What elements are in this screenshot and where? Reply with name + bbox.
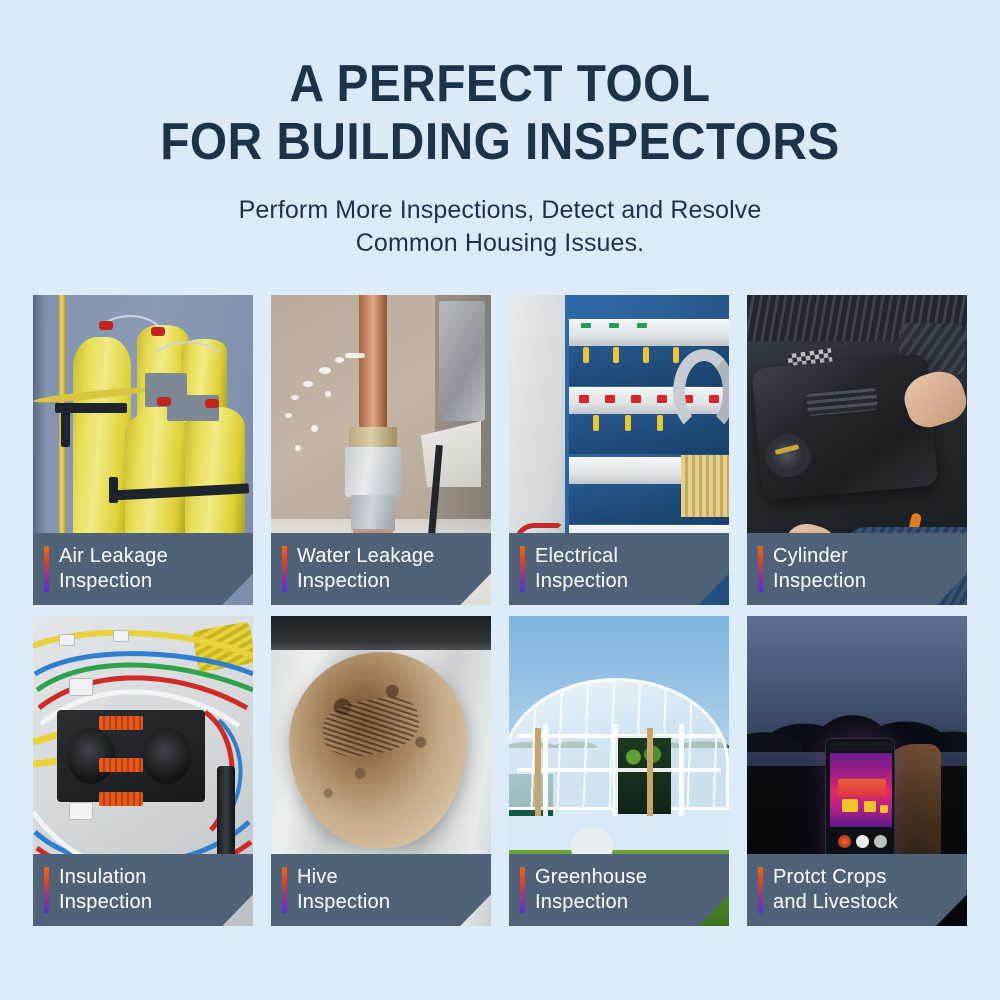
thermal-camera-phone-icon: [825, 738, 895, 874]
header: A PERFECT TOOL FOR BUILDING INSPECTORS P…: [0, 0, 1000, 260]
caption-line-2: Inspection: [59, 569, 168, 594]
caption-line-1: Greenhouse: [535, 865, 647, 890]
caption-line-1: Hive: [297, 865, 390, 890]
caption-line-2: Inspection: [59, 890, 152, 915]
card-caption-text: Protct Crops and Livestock: [773, 865, 898, 915]
caption-line-1: Water Leakage: [297, 544, 435, 569]
card-caption-text: Insulation Inspection: [59, 865, 152, 915]
accent-bar-icon: [282, 867, 287, 913]
accent-bar-icon: [282, 546, 287, 592]
accent-bar-icon: [520, 867, 525, 913]
page-title-line-2: FOR BUILDING INSPECTORS: [40, 116, 960, 168]
caption-line-1: Insulation: [59, 865, 152, 890]
accent-bar-icon: [44, 867, 49, 913]
card-caption-cylinder-inspection: Cylinder Inspection: [747, 533, 967, 605]
caption-line-2: Inspection: [535, 890, 647, 915]
accent-bar-icon: [520, 546, 525, 592]
caption-line-1: Protct Crops: [773, 865, 898, 890]
card-insulation-inspection[interactable]: Insulation Inspection: [33, 616, 253, 926]
card-caption-water-leakage-inspection: Water Leakage Inspection: [271, 533, 491, 605]
card-air-leakage-inspection[interactable]: Air Leakage Inspection: [33, 295, 253, 605]
page-subtitle-line-1: Perform More Inspections, Detect and Res…: [0, 194, 1000, 227]
accent-bar-icon: [44, 546, 49, 592]
infographic-page: A PERFECT TOOL FOR BUILDING INSPECTORS P…: [0, 0, 1000, 1000]
page-title-line-1: A PERFECT TOOL: [40, 58, 960, 110]
card-caption-text: Water Leakage Inspection: [297, 544, 435, 594]
caption-line-2: Inspection: [535, 569, 628, 594]
card-caption-insulation-inspection: Insulation Inspection: [33, 854, 253, 926]
card-caption-electrical-inspection: Electrical Inspection: [509, 533, 729, 605]
caption-line-1: Electrical: [535, 544, 628, 569]
accent-bar-icon: [758, 867, 763, 913]
page-subtitle-line-2: Common Housing Issues.: [0, 227, 1000, 260]
card-caption-text: Hive Inspection: [297, 865, 390, 915]
card-protect-crops-and-livestock[interactable]: Protct Crops and Livestock: [747, 616, 967, 926]
card-caption-protect-crops-and-livestock: Protct Crops and Livestock: [747, 854, 967, 926]
card-hive-inspection[interactable]: Hive Inspection: [271, 616, 491, 926]
caption-line-1: Air Leakage: [59, 544, 168, 569]
card-caption-text: Cylinder Inspection: [773, 544, 866, 594]
card-greenhouse-inspection[interactable]: Greenhouse Inspection: [509, 616, 729, 926]
card-caption-text: Greenhouse Inspection: [535, 865, 647, 915]
card-caption-text: Electrical Inspection: [535, 544, 628, 594]
caption-line-2: Inspection: [297, 569, 435, 594]
card-cylinder-inspection[interactable]: Cylinder Inspection: [747, 295, 967, 605]
page-title: A PERFECT TOOL FOR BUILDING INSPECTORS: [40, 58, 960, 168]
caption-line-2: Inspection: [773, 569, 866, 594]
caption-line-2: Inspection: [297, 890, 390, 915]
card-water-leakage-inspection[interactable]: Water Leakage Inspection: [271, 295, 491, 605]
inspection-card-grid: Air Leakage Inspection: [33, 295, 967, 926]
page-subtitle: Perform More Inspections, Detect and Res…: [0, 194, 1000, 260]
caption-line-1: Cylinder: [773, 544, 866, 569]
card-caption-hive-inspection: Hive Inspection: [271, 854, 491, 926]
accent-bar-icon: [758, 546, 763, 592]
card-caption-air-leakage-inspection: Air Leakage Inspection: [33, 533, 253, 605]
card-electrical-inspection[interactable]: Electrical Inspection: [509, 295, 729, 605]
card-caption-greenhouse-inspection: Greenhouse Inspection: [509, 854, 729, 926]
card-caption-text: Air Leakage Inspection: [59, 544, 168, 594]
caption-line-2: and Livestock: [773, 890, 898, 915]
